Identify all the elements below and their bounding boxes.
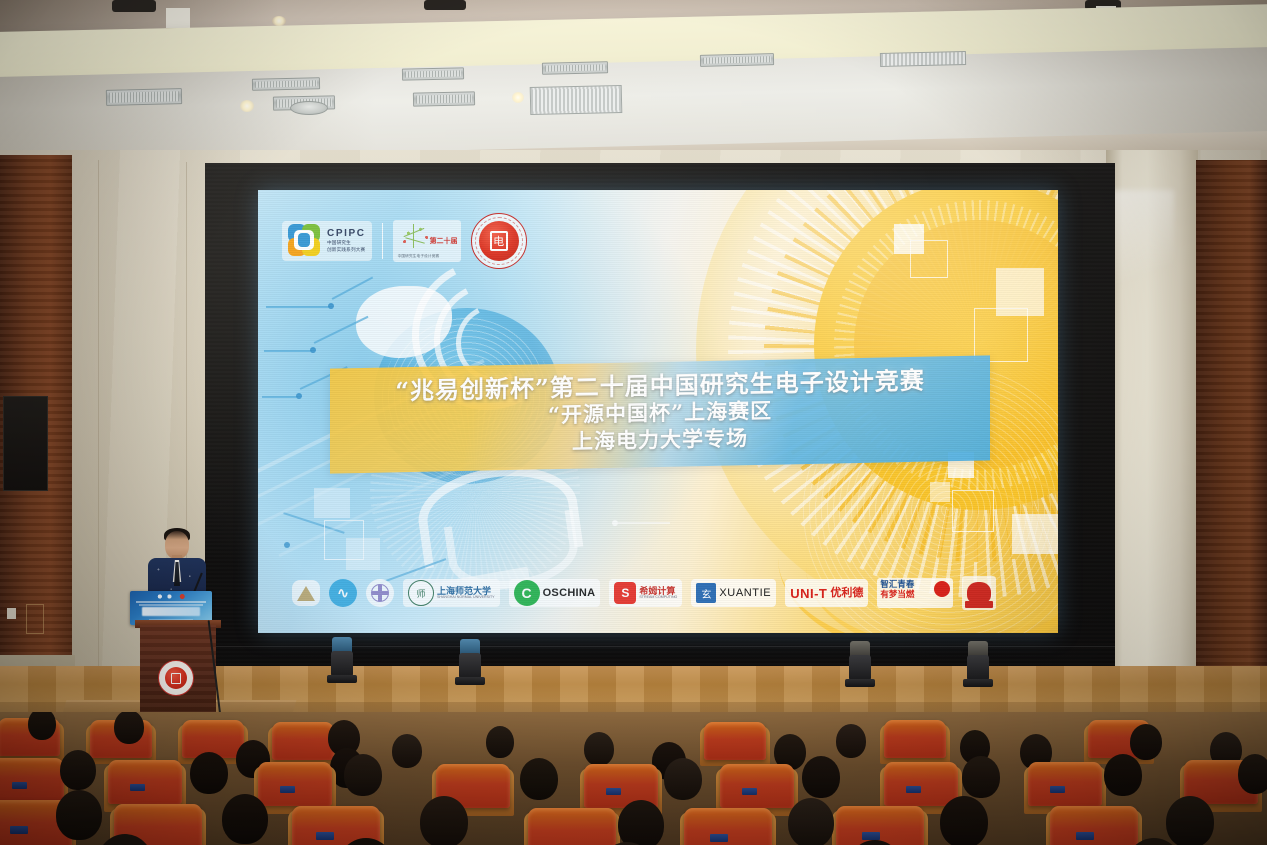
ceiling-air-vent-1 <box>106 88 182 106</box>
stage-moving-light-1 <box>327 637 357 683</box>
sponsor-logo-oschina: C OSCHINA <box>509 579 601 607</box>
deco-square-9 <box>314 488 350 518</box>
seat-number-plate <box>130 784 145 791</box>
podium-university-seal <box>158 660 194 696</box>
audience-head <box>190 752 228 794</box>
seat-number-plate <box>606 788 621 795</box>
seat-number-plate <box>10 826 28 834</box>
audience-head <box>788 798 834 845</box>
unit-label: UNI-T <box>790 587 827 600</box>
seat-number-plate <box>1076 832 1094 840</box>
audience-head <box>1238 754 1267 794</box>
seat-back <box>1028 762 1102 806</box>
podium-sign-logos <box>156 594 188 599</box>
audience-head <box>1104 754 1142 796</box>
ceiling-air-vent-6 <box>542 61 608 74</box>
audience-head <box>836 724 866 758</box>
circuit-trace-9 <box>618 522 670 524</box>
seat-number-plate <box>742 788 757 795</box>
wall-panel-frame-left <box>26 604 44 634</box>
audience-area <box>0 712 1267 845</box>
audience-head <box>802 756 840 798</box>
podium-seal-glyph <box>171 673 181 684</box>
sponsor-logo-blue-swirl: ∿ <box>329 578 357 608</box>
sponsor-logo-shanghai-dianji <box>962 578 996 608</box>
ceiling-track-light-1 <box>112 0 156 12</box>
audience-head <box>222 794 268 844</box>
seat-back <box>720 764 794 808</box>
audience-head <box>28 712 56 740</box>
sponsor-logo-flower <box>366 578 394 608</box>
seat-number-plate <box>280 786 295 793</box>
logo-university-seal: 电 <box>471 213 527 269</box>
anniversary-label: 第二十届 <box>430 236 458 246</box>
ceiling-track-light-2 <box>424 0 466 10</box>
cpipc-cn-label-1: 中国研究生 <box>327 241 366 246</box>
seat-back <box>684 808 772 845</box>
logo-anniversary: 第二十届 中国研究生电子设计竞赛 <box>393 220 461 262</box>
seat-back <box>1050 806 1138 845</box>
seat-number-plate <box>862 832 880 840</box>
seat-back <box>884 720 946 758</box>
ceiling-air-diffuser <box>290 101 328 115</box>
shnu-sub-label: SHANGHAI NORMAL UNIVERSITY <box>437 596 495 600</box>
audience-head <box>520 758 558 800</box>
right-wood-texture <box>1196 160 1267 700</box>
seat-number-plate <box>906 786 921 793</box>
podium-seal-inner <box>165 667 187 689</box>
ceiling-downlight-a <box>272 16 286 26</box>
audience-head <box>584 732 614 766</box>
audience-head <box>114 712 144 744</box>
logo-divider <box>382 223 383 259</box>
audience-head <box>1166 796 1214 845</box>
circuit-trace-1 <box>266 306 330 308</box>
screen-top-logo-row: CPIPC 中国研究生 创新实践系列大赛 第二十届 中国研究生电子设计竞赛 电 <box>282 212 527 270</box>
screen-title-text: “兆易创新杯”第二十届中国研究生电子设计竞赛 “开源中国杯”上海赛区 上海电力大… <box>330 353 990 471</box>
deco-square-6 <box>930 482 950 502</box>
audience-head <box>940 796 988 845</box>
audience-head <box>60 750 96 790</box>
audience-head <box>420 796 468 845</box>
circuit-node-2 <box>310 347 316 353</box>
title-line-3: 上海电力大学专场 <box>572 425 748 455</box>
sponsor-logo-triangle <box>292 578 320 608</box>
ceiling-return-grille-1 <box>530 85 623 115</box>
sponsor-logo-zhihui-qingchun: 智汇青春 有梦当燃 <box>877 578 953 608</box>
circuit-node-3 <box>296 393 302 399</box>
unit-sub-label: 优利德 <box>830 588 863 599</box>
seat-back <box>836 806 924 845</box>
oschina-label: OSCHINA <box>543 588 596 599</box>
ceiling-downlight-c <box>512 92 524 103</box>
ceiling-air-vent-7 <box>700 53 774 67</box>
circuit-node-1 <box>328 303 334 309</box>
circuit-trace-5 <box>262 396 298 398</box>
right-pillar-highlight <box>1112 190 1174 310</box>
seat-back <box>528 808 616 845</box>
sponsor-logo-uni-t: UNI-T 优利德 <box>785 579 868 607</box>
wall-speaker-left <box>3 396 48 491</box>
podium-sign-title <box>142 607 200 616</box>
sponsor-logo-shanghai-normal-university: 师 上海师范大学 SHANGHAI NORMAL UNIVERSITY <box>403 579 500 607</box>
streamcomputing-sub-label: STREAM COMPUTING <box>639 596 677 600</box>
anniversary-sub-label: 中国研究生电子设计竞赛 <box>398 254 440 259</box>
deco-square-2 <box>910 240 948 278</box>
deco-square-7 <box>952 490 994 532</box>
seat-number-plate <box>12 782 27 789</box>
audience-head <box>664 758 702 800</box>
cpipc-mark-icon <box>288 224 322 258</box>
seat-number-plate <box>1050 786 1065 793</box>
seat-back <box>704 722 766 760</box>
audience-head <box>1130 724 1162 760</box>
audience-head <box>618 800 664 845</box>
stage-moving-light-4 <box>963 641 993 687</box>
logo-cpipc: CPIPC 中国研究生 创新实践系列大赛 <box>282 221 372 261</box>
cpipc-cn-label-2: 创新实践系列大赛 <box>327 248 366 253</box>
ceiling-air-vent-2 <box>252 77 320 91</box>
ceiling-downlight-b <box>240 100 254 112</box>
sponsor-logo-streamcomputing: S 希姆计算 STREAM COMPUTING <box>609 579 682 607</box>
auditorium-scene: CPIPC 中国研究生 创新实践系列大赛 第二十届 中国研究生电子设计竞赛 电 <box>0 0 1267 845</box>
ceiling-return-grille-2 <box>880 51 966 67</box>
led-presentation-screen[interactable]: CPIPC 中国研究生 创新实践系列大赛 第二十届 中国研究生电子设计竞赛 电 <box>258 190 1058 633</box>
stage-moving-light-3 <box>845 641 875 687</box>
wall-seam-1 <box>98 160 99 700</box>
audience-head <box>392 734 422 768</box>
wall-switch-plate-left[interactable] <box>7 608 16 619</box>
ceiling-air-vent-5 <box>413 91 475 106</box>
screen-sponsor-strip: ∿ 师 上海师范大学 SHANGHAI NORMAL UNIVERSITY <box>292 573 1032 613</box>
circuit-trace-3 <box>264 350 312 352</box>
seat-back <box>108 760 182 804</box>
cpipc-text-block: CPIPC 中国研究生 创新实践系列大赛 <box>327 229 366 252</box>
deco-square-8 <box>1012 514 1058 554</box>
audience-head <box>486 726 514 758</box>
seat-back <box>272 722 334 760</box>
cpipc-en-label: CPIPC <box>327 229 366 239</box>
seat-back <box>884 762 958 806</box>
xuantie-label: XUANTIE <box>719 588 771 599</box>
seat-number-plate <box>710 834 728 842</box>
audience-head <box>56 790 102 840</box>
audience-head <box>962 756 1000 798</box>
ceiling-air-vent-4 <box>402 67 464 80</box>
ceiling-light-panel-1 <box>166 8 190 28</box>
seat-number-plate <box>316 832 334 840</box>
seat-back <box>0 758 64 802</box>
stage-moving-light-2 <box>455 639 485 685</box>
circuit-node-4 <box>284 542 290 548</box>
seat-back <box>258 762 332 806</box>
seal-outer-arc <box>475 217 523 265</box>
sponsor-logo-xuantie: 玄 XUANTIE <box>691 579 776 607</box>
deco-square-11 <box>346 538 380 570</box>
audience-head <box>344 754 382 796</box>
